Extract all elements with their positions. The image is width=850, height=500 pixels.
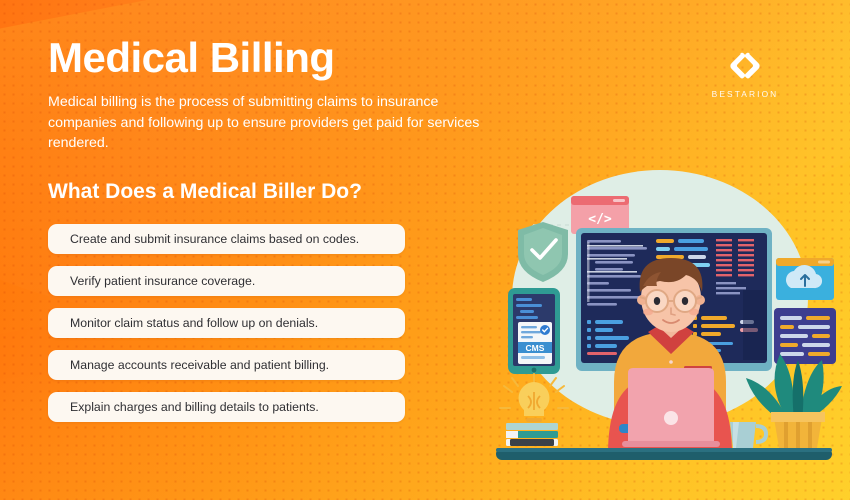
section-heading: What Does a Medical Biller Do? <box>48 180 508 204</box>
desk-highlight <box>496 448 832 452</box>
brand-logo[interactable]: BESTARION <box>690 50 800 99</box>
list-item[interactable]: Manage accounts receivable and patient b… <box>48 350 405 380</box>
mug-icon <box>730 422 766 448</box>
task-label: Verify patient insurance coverage. <box>70 275 255 287</box>
list-item[interactable]: Create and submit insurance claims based… <box>48 224 405 254</box>
brand-name: BESTARION <box>690 89 800 99</box>
svg-text:</>: </> <box>588 212 612 227</box>
page-subtitle: Medical billing is the process of submit… <box>48 92 488 154</box>
task-label: Manage accounts receivable and patient b… <box>70 359 329 371</box>
list-item[interactable]: Explain charges and billing details to p… <box>48 392 405 422</box>
svg-text:CMS: CMS <box>526 343 545 353</box>
tablet-cms-icon: CMS <box>508 288 560 374</box>
list-item[interactable]: Monitor claim status and follow up on de… <box>48 308 405 338</box>
task-label: Monitor claim status and follow up on de… <box>70 317 318 329</box>
hero-illustration: </> <box>488 170 848 460</box>
task-label: Create and submit insurance claims based… <box>70 233 359 245</box>
laptop-icon <box>622 368 720 447</box>
books-icon <box>506 423 558 446</box>
content-column: Medical Billing Medical billing is the p… <box>48 36 508 434</box>
list-item[interactable]: Verify patient insurance coverage. <box>48 266 405 296</box>
double-diamond-logo-icon <box>690 50 800 82</box>
code-snippet-icon <box>774 308 836 364</box>
cloud-upload-icon <box>776 258 834 300</box>
page-title: Medical Billing <box>48 36 508 80</box>
task-label: Explain charges and billing details to p… <box>70 401 319 413</box>
banner-root: BESTARION Medical Billing Medical billin… <box>0 0 850 500</box>
task-list: Create and submit insurance claims based… <box>48 224 508 422</box>
